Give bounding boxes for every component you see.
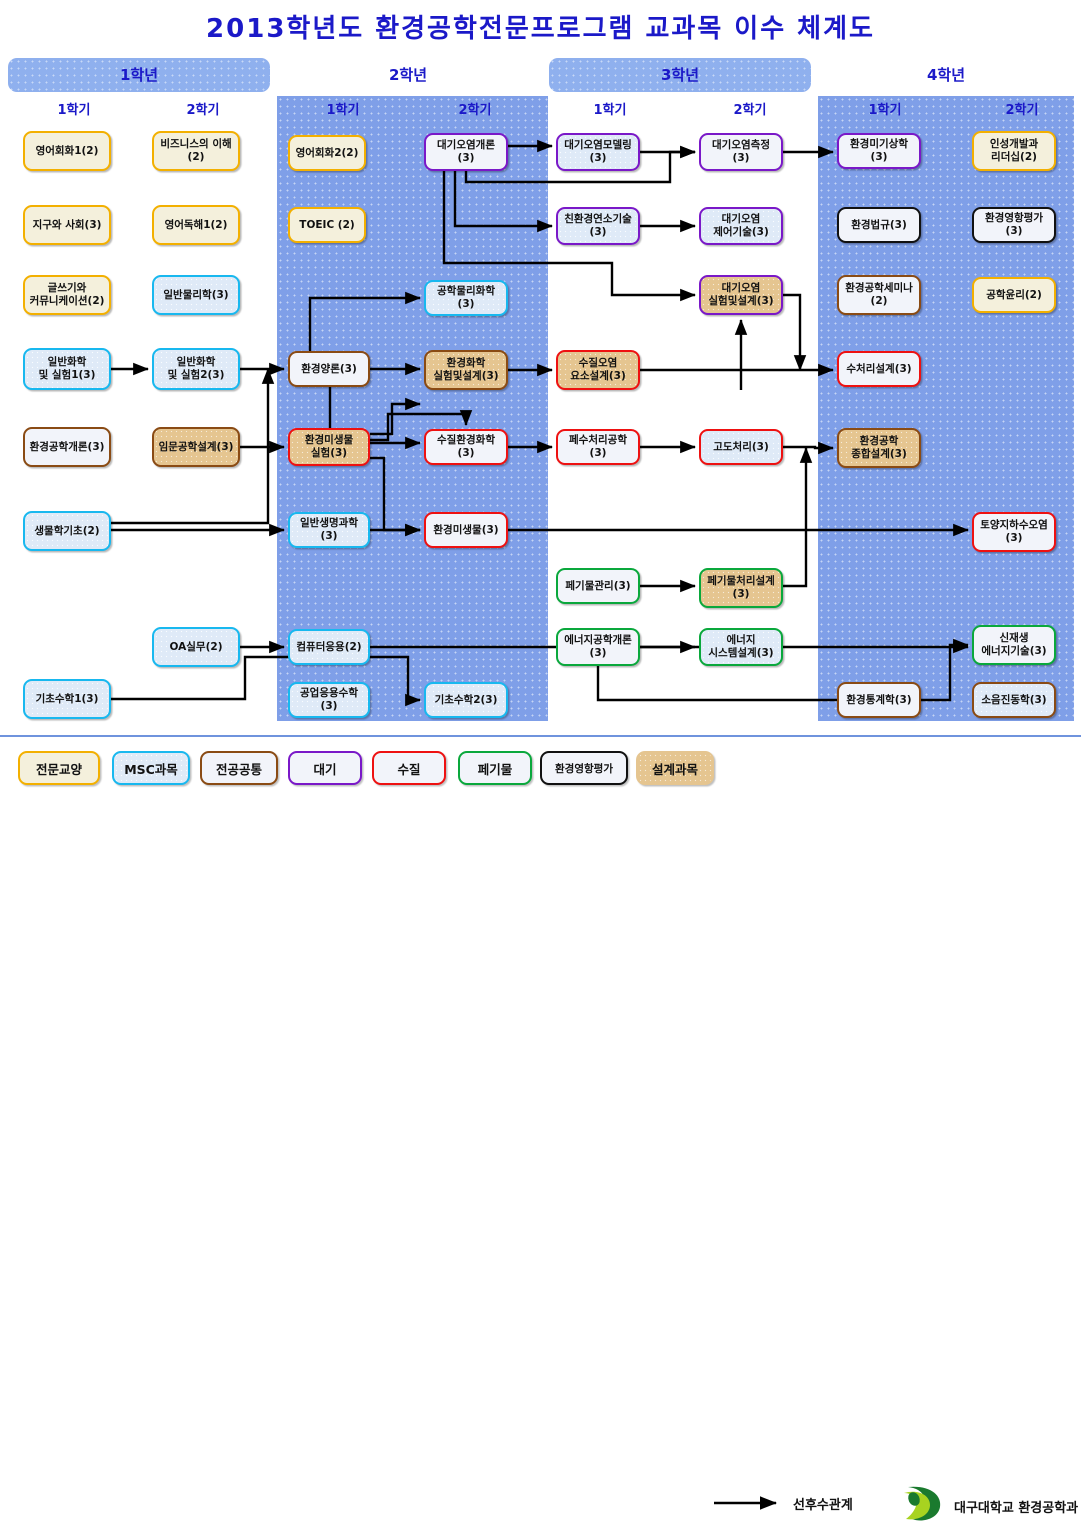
course-node[interactable]: 수처리설계(3) bbox=[837, 351, 921, 387]
course-label: 글쓰기와 커뮤니케이션(2) bbox=[30, 282, 105, 308]
course-node[interactable]: 대기오염모델링 (3) bbox=[556, 133, 640, 171]
course-label: 환경공학 종합설계(3) bbox=[851, 435, 907, 461]
course-node[interactable]: 공학윤리(2) bbox=[972, 277, 1056, 313]
course-node[interactable]: 환경미생물(3) bbox=[424, 512, 508, 548]
course-label: 소음진동학(3) bbox=[981, 694, 1046, 707]
course-node[interactable]: 생물학기초(2) bbox=[23, 511, 111, 551]
course-node[interactable]: 소음진동학(3) bbox=[972, 682, 1056, 718]
course-node[interactable]: 일반물리학(3) bbox=[152, 275, 240, 315]
course-label: 대기오염 실험및설계(3) bbox=[708, 282, 773, 308]
course-label: 일반물리학(3) bbox=[163, 289, 228, 302]
course-node[interactable]: 공학물리화학(3) bbox=[424, 280, 508, 316]
course-label: 비즈니스의 이해 (2) bbox=[160, 138, 231, 164]
course-node[interactable]: 대기오염 실험및설계(3) bbox=[699, 275, 783, 315]
course-label: 환경미생물 실험(3) bbox=[305, 434, 353, 460]
course-label: 공학물리화학(3) bbox=[429, 285, 503, 311]
course-label: 컴퓨터응용(2) bbox=[296, 641, 361, 654]
course-node[interactable]: 대기오염측정(3) bbox=[699, 133, 783, 171]
course-node[interactable]: OA실무(2) bbox=[152, 627, 240, 667]
course-node[interactable]: 인성개발과 리더십(2) bbox=[972, 131, 1056, 171]
year-label-2: 2학년 bbox=[277, 58, 539, 92]
course-node[interactable]: 수질환경화학(3) bbox=[424, 429, 508, 465]
course-label: 일반화학 및 실험1(3) bbox=[39, 356, 96, 382]
semester-label-y1s1: 1학기 bbox=[14, 99, 134, 123]
course-label: 공학윤리(2) bbox=[986, 289, 1042, 302]
relation-label: 선후수관계 bbox=[793, 1494, 853, 1513]
course-node[interactable]: 환경양론(3) bbox=[288, 351, 370, 387]
university-logo-icon bbox=[900, 1483, 946, 1525]
year-label-3: 3학년 bbox=[549, 58, 811, 92]
semester-label-y4s1: 1학기 bbox=[825, 99, 945, 123]
course-node[interactable]: 비즈니스의 이해 (2) bbox=[152, 131, 240, 171]
course-node[interactable]: 기초수학2(3) bbox=[424, 682, 508, 718]
course-label: 토양지하수오염 (3) bbox=[980, 519, 1048, 545]
course-label: 수질오염 요소설계(3) bbox=[570, 357, 626, 383]
course-label: 지구와 사회(3) bbox=[33, 219, 102, 232]
course-label: TOEIC (2) bbox=[299, 219, 354, 232]
legend-item[interactable]: 수질 bbox=[372, 751, 446, 785]
legend-item-label: MSC과목 bbox=[124, 759, 178, 778]
course-label: 환경공학개론(3) bbox=[30, 441, 105, 454]
course-label: 페기물관리(3) bbox=[565, 580, 630, 593]
legend-item[interactable]: 대기 bbox=[288, 751, 362, 785]
course-node[interactable]: 환경공학 종합설계(3) bbox=[837, 428, 921, 468]
course-node[interactable]: 토양지하수오염 (3) bbox=[972, 512, 1056, 552]
course-label: 고도처리(3) bbox=[713, 441, 769, 454]
semester-label-y1s2: 2학기 bbox=[143, 99, 263, 123]
course-label: 수질환경화학(3) bbox=[429, 434, 503, 460]
legend-item-label: 설계과목 bbox=[652, 759, 698, 778]
course-label: 영어회화1(2) bbox=[36, 145, 99, 158]
course-node[interactable]: 신재생 에너지기술(3) bbox=[972, 625, 1056, 665]
course-label: 기초수학2(3) bbox=[435, 694, 498, 707]
semester-label-y3s2: 2학기 bbox=[690, 99, 810, 123]
course-node[interactable]: 환경미생물 실험(3) bbox=[288, 428, 370, 466]
course-node[interactable]: 고도처리(3) bbox=[699, 429, 783, 465]
course-label: 대기오염모델링 (3) bbox=[564, 139, 632, 165]
course-label: 대기오염개론(3) bbox=[429, 139, 503, 165]
legend-item[interactable]: 전공공통 bbox=[200, 751, 278, 785]
legend-item[interactable]: 전문교양 bbox=[18, 751, 100, 785]
course-node[interactable]: 지구와 사회(3) bbox=[23, 205, 111, 245]
course-label: 환경법규(3) bbox=[851, 219, 907, 232]
course-node[interactable]: 환경공학세미나 (2) bbox=[837, 275, 921, 315]
semester-label-y2s1: 1학기 bbox=[283, 99, 403, 123]
course-label: 생물학기초(2) bbox=[34, 525, 99, 538]
legend-divider bbox=[0, 735, 1081, 737]
semester-label-y2s2: 2학기 bbox=[415, 99, 535, 123]
course-node[interactable]: 페기물처리설계 (3) bbox=[699, 568, 783, 608]
legend-item-label: 수질 bbox=[397, 759, 420, 778]
course-label: 공업응용수학(3) bbox=[293, 687, 365, 713]
course-node[interactable]: 수질오염 요소설계(3) bbox=[556, 350, 640, 390]
course-label: 환경미기상학(3) bbox=[842, 138, 916, 164]
legend-item[interactable]: 페기물 bbox=[458, 751, 532, 785]
course-node[interactable]: 공업응용수학(3) bbox=[288, 682, 370, 718]
course-label: 임문공학설계(3) bbox=[159, 441, 234, 454]
year-label-1: 1학년 bbox=[8, 58, 270, 92]
course-label: 환경미생물(3) bbox=[433, 524, 498, 537]
course-node[interactable]: 페수처리공학(3) bbox=[556, 429, 640, 465]
legend-bar: 전문교양MSC과목전공공통대기수질페기물환경영항평가설계과목 선후수관계 대구대… bbox=[0, 735, 1081, 794]
course-node[interactable]: TOEIC (2) bbox=[288, 207, 366, 243]
department-label: 대구대학교 환경공학과 bbox=[954, 1497, 1078, 1516]
legend-item-label: 대기 bbox=[313, 759, 336, 778]
legend-item[interactable]: 설계과목 bbox=[636, 751, 714, 785]
year2-column-band bbox=[277, 96, 548, 721]
course-label: 에너지공학개론 (3) bbox=[564, 634, 632, 660]
course-node[interactable]: 영어회화1(2) bbox=[23, 131, 111, 171]
course-node[interactable]: 에너지공학개론 (3) bbox=[556, 628, 640, 666]
course-label: 영어회화2(2) bbox=[296, 147, 359, 160]
course-node[interactable]: 일반화학 및 실험2(3) bbox=[152, 348, 240, 390]
year-label-4: 4학년 bbox=[818, 58, 1074, 92]
course-node[interactable]: 일반화학 및 실험1(3) bbox=[23, 348, 111, 390]
course-node[interactable]: 영어독해1(2) bbox=[152, 205, 240, 245]
course-label: 기초수학1(3) bbox=[36, 693, 99, 706]
course-label: OA실무(2) bbox=[170, 641, 223, 654]
course-label: 환경통계학(3) bbox=[846, 694, 911, 707]
prerequisite-arrow bbox=[783, 448, 806, 586]
course-node[interactable]: 환경화학 실험및설계(3) bbox=[424, 350, 508, 390]
semester-label-y4s2: 2학기 bbox=[962, 99, 1081, 123]
legend-item-label: 환경영항평가 bbox=[555, 761, 613, 776]
course-node[interactable]: 기초수학1(3) bbox=[23, 679, 111, 719]
legend-item-label: 전공공통 bbox=[216, 759, 262, 778]
course-node[interactable]: 환경공학개론(3) bbox=[23, 427, 111, 467]
course-label: 신재생 에너지기술(3) bbox=[981, 632, 1046, 658]
course-node[interactable]: 환경통계학(3) bbox=[837, 682, 921, 718]
course-node[interactable]: 페기물관리(3) bbox=[556, 568, 640, 604]
legend-item-label: 전문교양 bbox=[36, 759, 82, 778]
course-node[interactable]: 환경법규(3) bbox=[837, 207, 921, 243]
course-node[interactable]: 대기오염개론(3) bbox=[424, 133, 508, 171]
course-node[interactable]: 임문공학설계(3) bbox=[152, 427, 240, 467]
course-label: 영어독해1(2) bbox=[165, 219, 228, 232]
course-label: 환경양론(3) bbox=[301, 363, 357, 376]
course-node[interactable]: 영어회화2(2) bbox=[288, 135, 366, 171]
legend-item[interactable]: MSC과목 bbox=[112, 751, 190, 785]
legend-item-label: 페기물 bbox=[478, 759, 513, 778]
course-node[interactable]: 일반생명과학(3) bbox=[288, 512, 370, 548]
course-node[interactable]: 컴퓨터응용(2) bbox=[288, 629, 370, 665]
course-label: 페기물처리설계 (3) bbox=[707, 575, 775, 601]
course-label: 에너지 시스템설계(3) bbox=[708, 634, 773, 660]
course-label: 일반화학 및 실험2(3) bbox=[168, 356, 225, 382]
course-label: 페수처리공학(3) bbox=[561, 434, 635, 460]
relation-arrow-icon bbox=[712, 1495, 788, 1511]
legend-item[interactable]: 환경영항평가 bbox=[540, 751, 628, 785]
prerequisite-arrow bbox=[783, 295, 800, 370]
course-label: 일반생명과학(3) bbox=[293, 517, 365, 543]
course-label: 대기오염 제어기술(3) bbox=[713, 213, 769, 239]
course-label: 대기오염측정(3) bbox=[704, 139, 778, 165]
course-label: 환경화학 실험및설계(3) bbox=[433, 357, 498, 383]
course-label: 환경영항평가(3) bbox=[977, 212, 1051, 238]
course-label: 환경공학세미나 (2) bbox=[845, 282, 913, 308]
course-label: 친환경연소기술 (3) bbox=[564, 213, 632, 239]
course-node[interactable]: 친환경연소기술 (3) bbox=[556, 207, 640, 245]
course-label: 인성개발과 리더십(2) bbox=[990, 138, 1038, 164]
course-node[interactable]: 대기오염 제어기술(3) bbox=[699, 207, 783, 245]
course-node[interactable]: 환경영항평가(3) bbox=[972, 207, 1056, 243]
semester-label-y3s1: 1학기 bbox=[550, 99, 670, 123]
course-node[interactable]: 환경미기상학(3) bbox=[837, 133, 921, 169]
page-title: 2013학년도 환경공학전문프로그램 교과목 이수 체계도 bbox=[0, 8, 1081, 45]
course-node[interactable]: 글쓰기와 커뮤니케이션(2) bbox=[23, 275, 111, 315]
course-node[interactable]: 에너지 시스템설계(3) bbox=[699, 628, 783, 666]
course-label: 수처리설계(3) bbox=[846, 363, 911, 376]
